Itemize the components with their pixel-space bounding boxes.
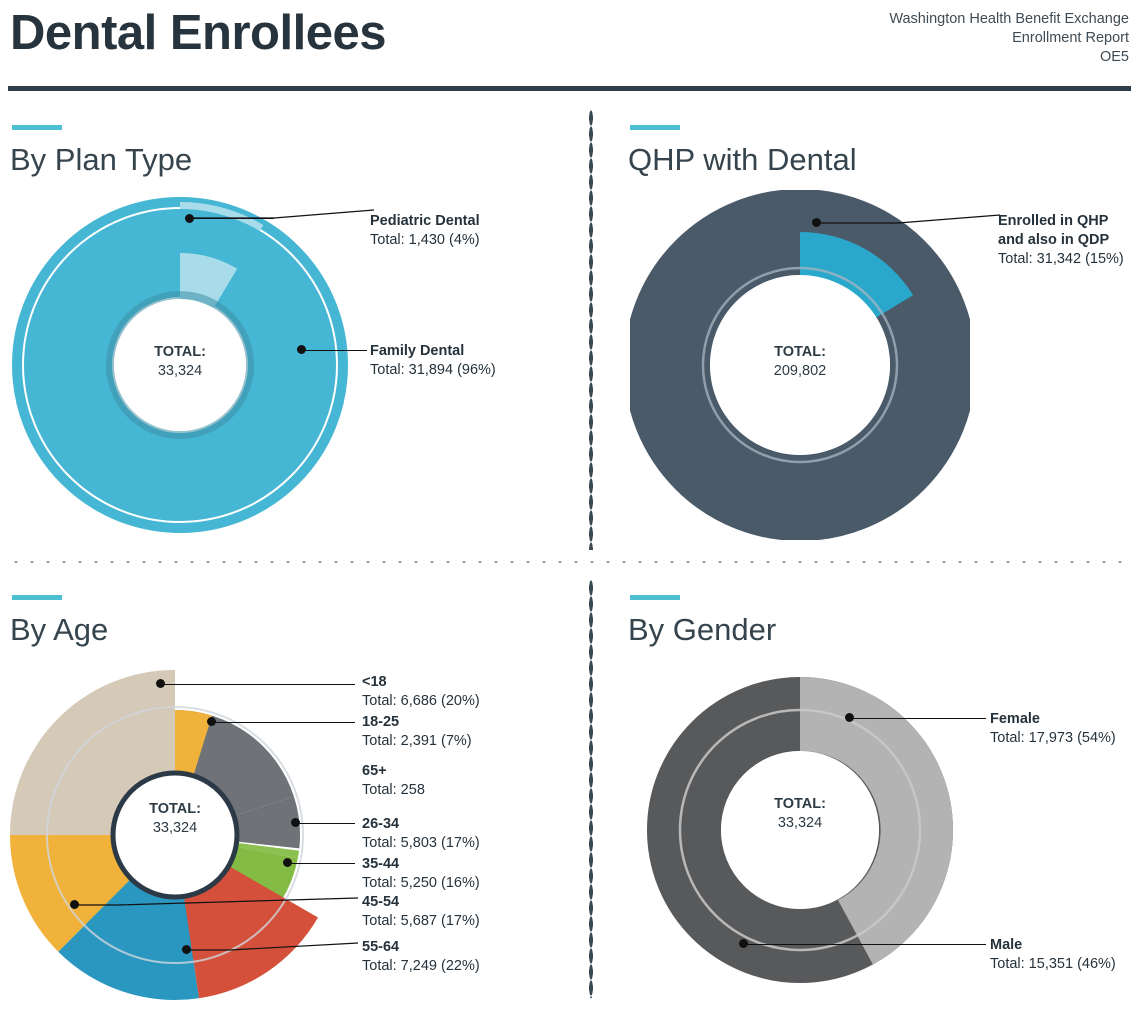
qhp-center-total: TOTAL: 209,802 [720,343,880,381]
callout-leader-family [305,350,367,351]
horizontal-dotted-divider [8,560,1133,564]
callout-age-26-34: 26-34 Total: 5,803 (17%) [362,815,480,853]
callout-leader-female [853,718,986,719]
callout-leader-age-18-25 [215,722,355,723]
org-name: Washington Health Benefit Exchange [889,10,1129,29]
callout-age-18-25-name: 18-25 [362,713,472,732]
callout-line-age-45-54 [78,888,358,910]
callout-pediatric-dental: Pediatric Dental Total: 1,430 (4%) [370,212,480,250]
callout-line-qhp [818,213,1000,235]
callout-age-65-plus: 65+ Total: 258 [362,762,425,800]
vertical-dotted-divider-top [589,110,593,550]
panel-accent-age [12,595,62,600]
callout-age-26-34-value: Total: 5,803 (17%) [362,834,480,853]
callout-age-65p-value: Total: 258 [362,781,425,800]
report-name: Enrollment Report [889,29,1129,48]
callout-age-45-54-name: 45-54 [362,893,480,912]
callout-age-under-18: <18 Total: 6,686 (20%) [362,673,480,711]
callout-age-45-54: 45-54 Total: 5,687 (17%) [362,893,480,931]
callout-family-value: Total: 31,894 (96%) [370,361,496,380]
callout-age-35-44-value: Total: 5,250 (16%) [362,874,480,893]
callout-qhp-name: Enrolled in QHP [998,212,1124,231]
report-source: Washington Health Benefit Exchange Enrol… [889,10,1129,67]
callout-age-35-44: 35-44 Total: 5,250 (16%) [362,855,480,893]
callout-leader-age-26-34 [299,823,355,824]
donut-chart-qhp: TOTAL: 209,802 [630,190,970,540]
callout-pediatric-value: Total: 1,430 (4%) [370,231,480,250]
gender-total-value: 33,324 [720,814,880,833]
panel-accent-gender [630,595,680,600]
callout-leader-age-35-44 [291,863,355,864]
callout-age-18-25: 18-25 Total: 2,391 (7%) [362,713,472,751]
page-title: Dental Enrollees [10,5,386,61]
callout-male-value: Total: 15,351 (46%) [990,955,1116,974]
gender-total-label: TOTAL: [774,796,826,812]
callout-female-name: Female [990,710,1116,729]
panel-title-gender: By Gender [628,612,776,648]
callout-female: Female Total: 17,973 (54%) [990,710,1116,748]
age-center-total: TOTAL: 33,324 [95,800,255,838]
donut-chart-plan-type: TOTAL: 33,324 [10,190,350,540]
callout-qhp-qdp: Enrolled in QHP and also in QDP Total: 3… [998,212,1124,269]
callout-male: Male Total: 15,351 (46%) [990,936,1116,974]
qhp-total-value: 209,802 [720,362,880,381]
callout-age-45-54-value: Total: 5,687 (17%) [362,912,480,931]
callout-age-u18-name: <18 [362,673,480,692]
panel-title-plan-type: By Plan Type [10,142,192,178]
plan-type-center-total: TOTAL: 33,324 [100,343,260,381]
age-total-label: TOTAL: [149,801,201,817]
callout-family-name: Family Dental [370,342,496,361]
panel-accent-plan-type [12,125,62,130]
vertical-dotted-divider-bottom [589,580,593,998]
callout-age-55-64-value: Total: 7,249 (22%) [362,957,480,976]
callout-age-65p-name: 65+ [362,762,425,781]
plan-type-total-label: TOTAL: [154,344,206,360]
dashboard-page: Dental Enrollees Washington Health Benef… [0,0,1139,1001]
callout-age-26-34-name: 26-34 [362,815,480,834]
callout-line-pediatric [189,207,374,225]
callout-female-value: Total: 17,973 (54%) [990,729,1116,748]
panel-title-qhp: QHP with Dental [628,142,857,178]
report-period: OE5 [889,48,1129,67]
callout-age-u18-value: Total: 6,686 (20%) [362,692,480,711]
qhp-total-label: TOTAL: [774,344,826,360]
callout-age-18-25-value: Total: 2,391 (7%) [362,732,472,751]
panel-title-age: By Age [10,612,108,648]
donut-chart-gender: TOTAL: 33,324 [630,655,970,1005]
header-divider [8,86,1131,91]
callout-family-dental: Family Dental Total: 31,894 (96%) [370,342,496,380]
callout-line-age-55-64 [190,938,358,960]
callout-age-55-64-name: 55-64 [362,938,480,957]
age-total-value: 33,324 [95,819,255,838]
callout-age-35-44-name: 35-44 [362,855,480,874]
callout-age-55-64: 55-64 Total: 7,249 (22%) [362,938,480,976]
callout-pediatric-name: Pediatric Dental [370,212,480,231]
callout-male-name: Male [990,936,1116,955]
panel-accent-qhp [630,125,680,130]
callout-qhp-value: Total: 31,342 (15%) [998,250,1124,269]
callout-leader-male [747,944,986,945]
plan-type-total-value: 33,324 [100,362,260,381]
callout-qhp-name2: and also in QDP [998,231,1124,250]
callout-leader-age-u18 [164,684,355,685]
gender-center-total: TOTAL: 33,324 [720,795,880,833]
